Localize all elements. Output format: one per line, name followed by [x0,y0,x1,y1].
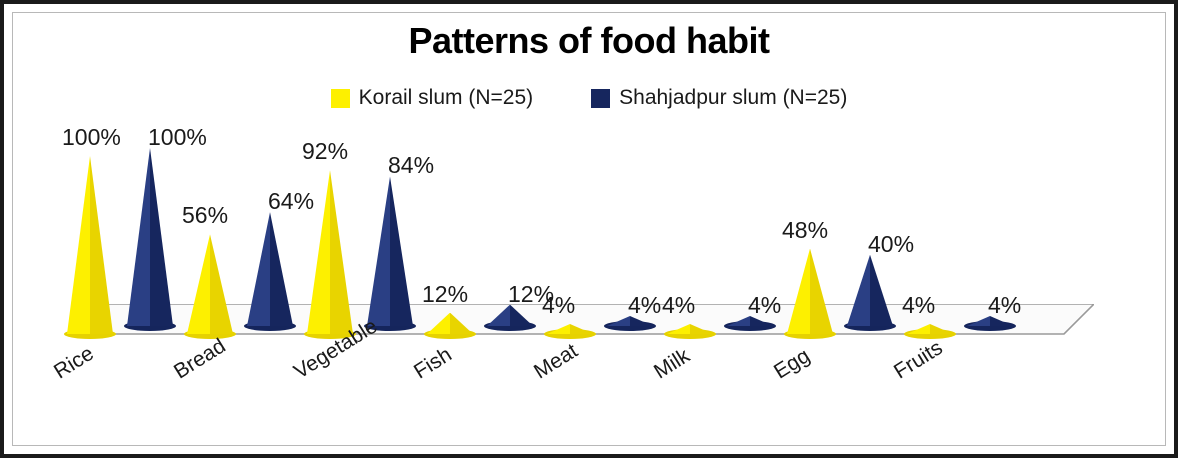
cone-left-face [787,249,810,334]
value-label-egg-shahjadpur: 40% [868,233,914,256]
cone-left-face [247,212,270,326]
cone-left-face [667,324,690,334]
cone-right-face [90,156,113,334]
chart-page: Patterns of food habit Korail slum (N=25… [0,0,1178,458]
category-label-bread: Bread [170,334,230,384]
cone-left-face [547,324,570,334]
value-label-meat-korail: 4% [542,294,575,317]
value-label-milk-korail: 4% [662,294,695,317]
chart-legend: Korail slum (N=25) Shahjadpur slum (N=25… [4,86,1174,110]
bar-fish-shahjadpur[interactable] [487,305,533,326]
bar-rice-korail[interactable] [67,156,113,334]
value-label-rice-korail: 100% [62,126,121,149]
cone-right-face [810,249,833,334]
cone-right-face [390,176,413,326]
legend-swatch-korail [331,89,350,108]
category-label-milk: Milk [650,344,694,384]
cone-left-face [907,324,930,334]
cone-right-face [150,148,173,326]
value-label-vegetable-korail: 92% [302,140,348,163]
category-label-fruits: Fruits [890,336,947,384]
chart-title: Patterns of food habit [4,20,1174,62]
cone-right-face [210,234,233,334]
category-label-rice: Rice [50,342,98,385]
cone-left-face [127,148,150,326]
value-label-fish-korail: 12% [422,283,468,306]
legend-item-korail[interactable]: Korail slum (N=25) [331,86,533,110]
bar-rice-shahjadpur[interactable] [127,148,173,326]
bar-milk-korail[interactable] [667,324,713,334]
bar-bread-korail[interactable] [187,234,233,334]
cone-left-face [967,316,990,326]
cone-right-face [570,324,593,334]
value-label-egg-korail: 48% [782,219,828,242]
cone-left-face [607,316,630,326]
value-label-rice-shahjadpur: 100% [148,126,207,149]
cone-right-face [690,324,713,334]
cone-right-face [930,324,953,334]
bar-fruits-korail[interactable] [907,324,953,334]
legend-label-korail: Korail slum (N=25) [359,86,533,110]
category-label-egg: Egg [770,344,814,384]
cone-left-face [367,176,390,326]
bar-bread-shahjadpur[interactable] [247,212,293,326]
cone-right-face [330,170,353,334]
value-label-fruits-shahjadpur: 4% [988,294,1021,317]
cone-right-face [870,255,893,326]
legend-item-shahjadpur[interactable]: Shahjadpur slum (N=25) [591,86,847,110]
category-label-fish: Fish [410,343,456,384]
cone-left-face [727,316,750,326]
bar-egg-korail[interactable] [787,249,833,334]
bar-egg-shahjadpur[interactable] [847,255,893,326]
cone-right-face [270,212,293,326]
cone-left-face [847,255,870,326]
category-label-meat: Meat [530,339,582,384]
bar-meat-korail[interactable] [547,324,593,334]
value-label-meat-shahjadpur: 4% [628,294,661,317]
legend-swatch-shahjadpur [591,89,610,108]
bar-fish-korail[interactable] [427,313,473,334]
plot-area: 100%100%Rice56%64%Bread92%84%Vegetable12… [4,122,1178,352]
legend-label-shahjadpur: Shahjadpur slum (N=25) [619,86,847,110]
cone-left-face [67,156,90,334]
bar-vegetable-korail[interactable] [307,170,353,334]
value-label-bread-korail: 56% [182,204,228,227]
cone-left-face [187,234,210,334]
value-label-fruits-korail: 4% [902,294,935,317]
value-label-milk-shahjadpur: 4% [748,294,781,317]
bar-vegetable-shahjadpur[interactable] [367,176,413,326]
cone-left-face [307,170,330,334]
value-label-vegetable-shahjadpur: 84% [388,154,434,177]
